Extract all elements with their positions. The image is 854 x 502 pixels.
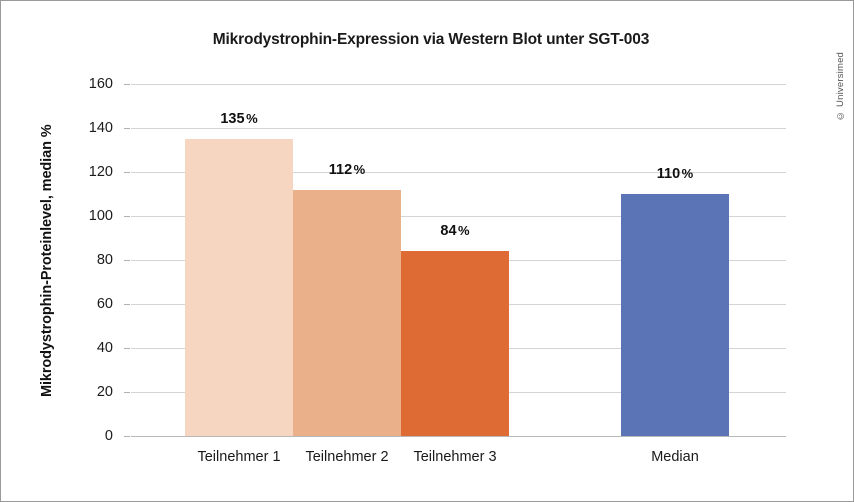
y-axis-tick-mark (124, 84, 130, 85)
x-axis-category-label: Teilnehmer 1 (197, 449, 280, 465)
x-axis-category-label: Teilnehmer 3 (413, 449, 496, 465)
y-axis-tick-mark (124, 216, 130, 217)
x-axis-category-label: Median (651, 449, 699, 465)
y-axis-tick-label: 160 (53, 76, 113, 92)
x-axis-line (131, 436, 786, 437)
bar-value-number: 84 (440, 223, 456, 239)
bar-value-label: 135% (220, 111, 257, 127)
bar-value-number: 110 (657, 166, 680, 182)
y-axis-tick-label: 0 (53, 428, 113, 444)
bar-value-label: 84% (440, 223, 469, 239)
y-axis-tick-mark (124, 348, 130, 349)
y-axis-tick-label: 20 (53, 384, 113, 400)
y-axis-tick-mark (124, 392, 130, 393)
y-axis-tick-label: 60 (53, 296, 113, 312)
bar[interactable] (401, 251, 509, 436)
bar-value-number: 135 (220, 111, 244, 127)
y-axis-tick-label: 80 (53, 252, 113, 268)
percent-sign: % (352, 162, 365, 177)
chart-title: Mikrodystrophin-Expression via Western B… (61, 31, 801, 49)
bar-value-number: 112 (329, 162, 352, 178)
x-axis-category-label: Teilnehmer 2 (305, 449, 388, 465)
plot-area: 160140120100806040200135%Teilnehmer 1112… (131, 84, 786, 436)
gridline (131, 128, 786, 129)
percent-sign: % (457, 223, 470, 238)
bar[interactable] (621, 194, 729, 436)
gridline (131, 84, 786, 85)
y-axis-tick-label: 100 (53, 208, 113, 224)
y-axis-tick-label: 120 (53, 164, 113, 180)
y-axis-tick-mark (124, 304, 130, 305)
y-axis-tick-label: 140 (53, 120, 113, 136)
chart-canvas: Mikrodystrophin-Expression via Western B… (0, 0, 854, 502)
y-axis-tick-mark (124, 128, 130, 129)
percent-sign: % (245, 111, 258, 126)
bar-value-label: 112% (329, 162, 365, 178)
bar[interactable] (185, 139, 293, 436)
copyright-notice: © Universimed (835, 11, 851, 121)
percent-sign: % (680, 166, 693, 181)
y-axis-tick-mark (124, 260, 130, 261)
bar-value-label: 110% (657, 166, 693, 182)
y-axis-tick-mark (124, 172, 130, 173)
y-axis-tick-mark (124, 436, 130, 437)
y-axis-tick-label: 40 (53, 340, 113, 356)
bar[interactable] (293, 190, 401, 436)
